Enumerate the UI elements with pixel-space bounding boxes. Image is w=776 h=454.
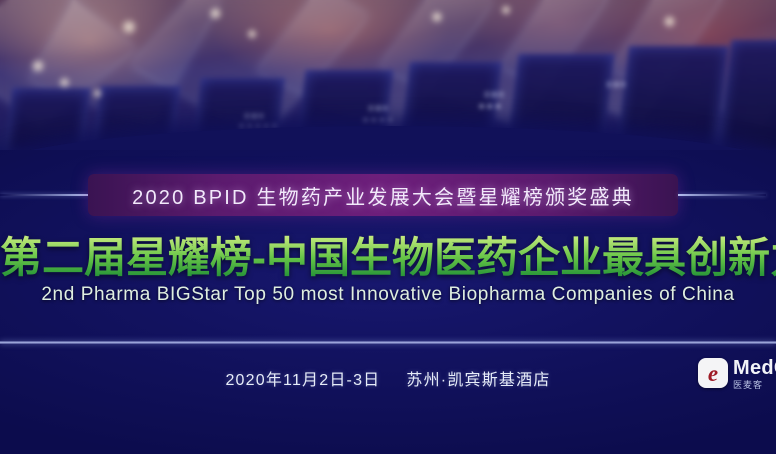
trophy-star-rating: ★★★	[478, 102, 503, 111]
bokeh-highlight	[246, 28, 258, 40]
medclub-logo: e MedC 医麦客	[698, 358, 776, 391]
event-poster: 星耀榜 ★★★★★ 星耀榜 ★★★★ 生物科技有限公司 星耀榜 ★★★ 星耀榜 …	[0, 0, 776, 454]
page-title-chinese: 第二届星耀榜-中国生物医药企业最具创新力50强	[0, 224, 776, 285]
trophy-label: 星耀榜	[368, 104, 389, 113]
bokeh-highlight	[500, 4, 512, 16]
rule-left	[0, 194, 88, 196]
footer-info: 2020年11月2日-3日苏州·凯宾斯基酒店	[0, 366, 776, 390]
trophy-label: 星耀榜	[244, 112, 265, 121]
ribbon-text: 2020 BPID 生物药产业发展大会暨星耀榜颁奖盛典	[132, 181, 634, 210]
page-title-english: 2nd Pharma BIGStar Top 50 most Innovativ…	[0, 284, 776, 306]
event-venue: 苏州·凯宾斯基酒店	[406, 372, 550, 389]
event-date: 2020年11月2日-3日	[225, 372, 380, 389]
bokeh-highlight	[430, 10, 444, 24]
ribbon-row: 2020 BPID 生物药产业发展大会暨星耀榜颁奖盛典	[0, 174, 776, 216]
logo-name: MedC	[733, 358, 776, 379]
rule-right	[678, 194, 766, 196]
bokeh-highlight	[662, 14, 677, 29]
bokeh-highlight	[208, 6, 223, 21]
trophy-label: 星耀榜	[606, 80, 627, 89]
bokeh-highlight	[30, 58, 46, 74]
logo-text-block: MedC 医麦客	[733, 358, 776, 391]
logo-subtitle: 医麦客	[733, 380, 776, 391]
trophy-star-rating: ★★★★	[362, 116, 395, 125]
ribbon-banner: 2020 BPID 生物药产业发展大会暨星耀榜颁奖盛典	[88, 174, 678, 216]
bokeh-highlight	[58, 76, 71, 89]
trophy-label: 星耀榜	[484, 90, 505, 99]
horizontal-divider	[0, 341, 776, 344]
logo-e-icon: e	[698, 358, 728, 388]
bokeh-highlight	[120, 18, 138, 36]
logo-mark-letter: e	[708, 362, 718, 385]
trophy-photo: 星耀榜 ★★★★★ 星耀榜 ★★★★ 生物科技有限公司 星耀榜 ★★★ 星耀榜	[0, 0, 776, 158]
bokeh-highlight	[92, 88, 103, 99]
